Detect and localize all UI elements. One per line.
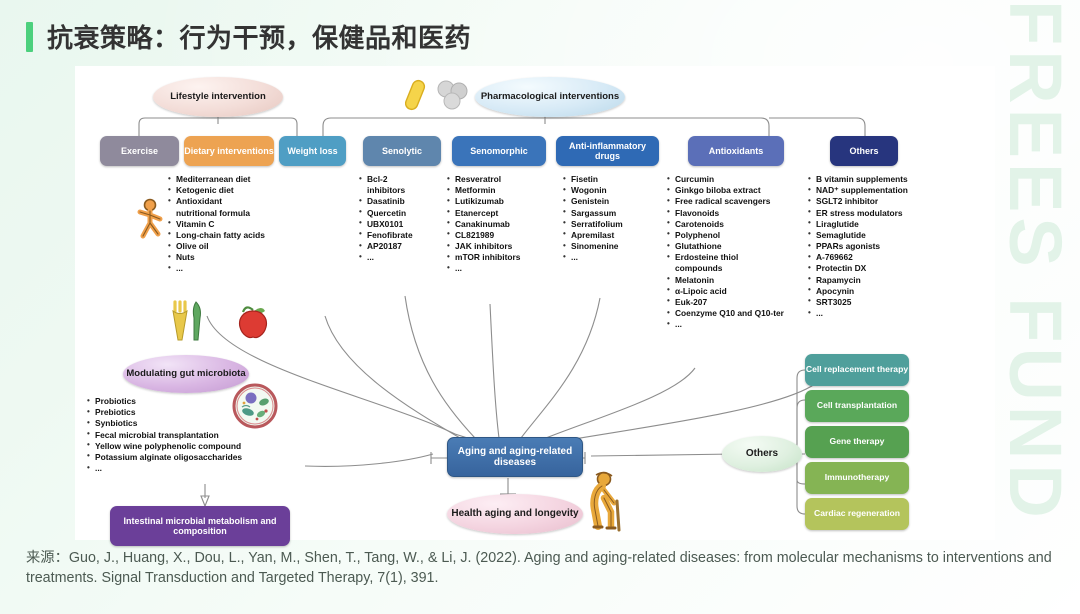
slide-canvas: FREES FUND 抗衰策略：行为干预，保健品和医药 <box>0 0 1080 614</box>
list-item: Wogonin <box>563 185 641 196</box>
list-item: ... <box>447 263 529 274</box>
list-item: ER stress modulators <box>808 208 930 219</box>
pill-capsule-icon <box>405 78 431 117</box>
list-item: Erdosteine thiol compounds <box>667 252 785 274</box>
root-pharmacological-label: Pharmacological interventions <box>481 92 619 103</box>
fork-knife-icon <box>170 300 204 347</box>
list-item: Free radical scavengers <box>667 196 785 207</box>
list-others-drugs: B vitamin supplements NAD⁺ supplementati… <box>808 174 930 319</box>
list-item: ... <box>87 463 302 474</box>
list-item: Rapamycin <box>808 275 930 286</box>
column-header-senolytic[interactable]: Senolytic <box>363 136 441 166</box>
column-header-label: Weight loss <box>287 146 337 156</box>
watermark: FREES FUND <box>992 0 1078 560</box>
list-item: Nuts <box>168 252 265 263</box>
page-title: 抗衰策略：行为干预，保健品和医药 <box>47 18 471 55</box>
box-label: Intestinal microbial metabolism and comp… <box>110 516 290 536</box>
list-item: Fenofibrate <box>359 230 425 241</box>
therapy-label: Cell transplantation <box>817 401 897 411</box>
list-item: Melatonin <box>667 275 785 286</box>
ellipse-label: Health aging and longevity <box>451 508 578 519</box>
list-item: JAK inhibitors <box>447 241 529 252</box>
therapy-label: Gene therapy <box>830 437 885 447</box>
list-item: Glutathione <box>667 241 785 252</box>
list-item: Polyphenol <box>667 230 785 241</box>
root-others-label: Others <box>746 448 778 459</box>
column-header-others-drugs[interactable]: Others <box>830 136 898 166</box>
list-item: Canakinumab <box>447 219 529 230</box>
elderly-person-walking-icon <box>580 470 630 541</box>
box-intestinal-microbial-metabolism[interactable]: Intestinal microbial metabolism and comp… <box>110 506 290 546</box>
list-item: ... <box>808 308 930 319</box>
therapy-cell-replacement-therapy[interactable]: Cell replacement therapy <box>805 354 909 386</box>
therapy-label: Cell replacement therapy <box>806 365 908 375</box>
therapy-gene-therapy[interactable]: Gene therapy <box>805 426 909 458</box>
column-header-antioxidants[interactable]: Antioxidants <box>688 136 784 166</box>
root-pharmacological-interventions[interactable]: Pharmacological interventions <box>475 77 625 117</box>
list-item: Quercetin <box>359 208 425 219</box>
column-header-label: Dietary interventions <box>184 146 274 156</box>
therapy-immunotherapy[interactable]: Immunotherapy <box>805 462 909 494</box>
list-item: Apremilast <box>563 230 641 241</box>
list-item: Olive oil <box>168 241 265 252</box>
list-item: SRT3025 <box>808 297 930 308</box>
list-item: Genistein <box>563 196 641 207</box>
list-item: Sinomenine <box>563 241 641 252</box>
list-item: NAD⁺ supplementation <box>808 185 930 196</box>
gut-microbe-icon <box>231 382 279 435</box>
list-item: Metformin <box>447 185 529 196</box>
list-item: Flavonoids <box>667 208 785 219</box>
list-item: Ginkgo biloba extract <box>667 185 785 196</box>
list-item: Coenzyme Q10 and Q10-ter <box>667 308 785 319</box>
list-item: Potassium alginate oligosaccharides <box>87 452 302 463</box>
list-item: Antioxidant nutritional formula <box>168 196 265 218</box>
running-person-icon <box>133 198 167 247</box>
list-item: Long-chain fatty acids <box>168 230 265 241</box>
list-item: ... <box>667 319 785 330</box>
list-item: Mediterranean diet <box>168 174 265 185</box>
list-item: SGLT2 inhibitor <box>808 196 930 207</box>
apple-icon <box>235 300 271 345</box>
list-item: Bcl-2 inhibitors <box>359 174 425 196</box>
list-item: Yellow wine polyphenolic compound <box>87 441 302 452</box>
list-item: PPARs agonists <box>808 241 930 252</box>
title-accent-bar <box>26 22 33 52</box>
list-item: ... <box>563 252 641 263</box>
list-item: Curcumin <box>667 174 785 185</box>
pill-spheres-icon <box>435 80 469 115</box>
root-microbiota-label: Modulating gut microbiota <box>126 369 245 380</box>
list-item: Sargassum <box>563 208 641 219</box>
list-item: ... <box>168 263 265 274</box>
box-aging-and-aging-related-diseases[interactable]: Aging and aging-related diseases <box>447 437 583 477</box>
list-senomorphic: Resveratrol Metformin Lutikizumab Etaner… <box>447 174 529 275</box>
box-label: Aging and aging-related diseases <box>448 446 582 468</box>
therapy-cardiac-regeneration[interactable]: Cardiac regeneration <box>805 498 909 530</box>
column-header-label: Exercise <box>121 146 158 156</box>
column-header-label: Others <box>849 146 878 156</box>
list-item: Apocynin <box>808 286 930 297</box>
column-header-label: Senomorphic <box>470 146 528 156</box>
ellipse-health-aging-and-longevity[interactable]: Health aging and longevity <box>447 494 583 534</box>
figure-canvas: Lifestyle intervention Pharmacological i… <box>75 66 995 540</box>
therapy-label: Cardiac regeneration <box>814 509 900 519</box>
list-item: Carotenoids <box>667 219 785 230</box>
list-item: α-Lipoic acid <box>667 286 785 297</box>
list-item: Liraglutide <box>808 219 930 230</box>
list-item: A-769662 <box>808 252 930 263</box>
root-others-therapies[interactable]: Others <box>722 436 802 472</box>
list-dietary-interventions: Mediterranean diet Ketogenic diet Antiox… <box>168 174 265 275</box>
list-item: Semaglutide <box>808 230 930 241</box>
root-lifestyle-label: Lifestyle intervention <box>170 92 266 103</box>
list-item: Resveratrol <box>447 174 529 185</box>
column-header-label: Antioxidants <box>709 146 764 156</box>
therapy-cell-transplantation[interactable]: Cell transplantation <box>805 390 909 422</box>
list-item: Vitamin C <box>168 219 265 230</box>
list-item: UBX0101 <box>359 219 425 230</box>
list-item: ... <box>359 252 425 263</box>
root-lifestyle-intervention[interactable]: Lifestyle intervention <box>153 77 283 117</box>
list-antioxidants: Curcumin Ginkgo biloba extract Free radi… <box>667 174 785 330</box>
list-item: B vitamin supplements <box>808 174 930 185</box>
list-anti-inflammatory-drugs: Fisetin Wogonin Genistein Sargassum Serr… <box>563 174 641 263</box>
list-item: Serratifolium <box>563 219 641 230</box>
column-header-dietary-interventions[interactable]: Dietary interventions <box>184 136 274 166</box>
list-item: Ketogenic diet <box>168 185 265 196</box>
therapy-label: Immunotherapy <box>825 473 889 483</box>
list-item: Dasatinib <box>359 196 425 207</box>
list-item: CL821989 <box>447 230 529 241</box>
list-item: AP20187 <box>359 241 425 252</box>
column-header-senomorphic[interactable]: Senomorphic <box>452 136 546 166</box>
column-header-label: Anti-inflammatory drugs <box>556 141 659 161</box>
list-item: mTOR inhibitors <box>447 252 529 263</box>
list-item: Etanercept <box>447 208 529 219</box>
list-item: Fisetin <box>563 174 641 185</box>
watermark-text: FREES FUND <box>1000 0 1070 523</box>
column-header-weight-loss[interactable]: Weight loss <box>279 136 346 166</box>
citation-text: 来源：Guo, J., Huang, X., Dou, L., Yan, M.,… <box>26 548 1056 589</box>
column-header-exercise[interactable]: Exercise <box>100 136 179 166</box>
list-item: Lutikizumab <box>447 196 529 207</box>
list-senolytic: Bcl-2 inhibitors Dasatinib Quercetin UBX… <box>359 174 425 263</box>
list-item: Protectin DX <box>808 263 930 274</box>
slide-title-row: 抗衰策略：行为干预，保健品和医药 <box>26 18 471 55</box>
list-item: Euk-207 <box>667 297 785 308</box>
column-header-anti-inflammatory-drugs[interactable]: Anti-inflammatory drugs <box>556 136 659 166</box>
column-header-label: Senolytic <box>382 146 422 156</box>
